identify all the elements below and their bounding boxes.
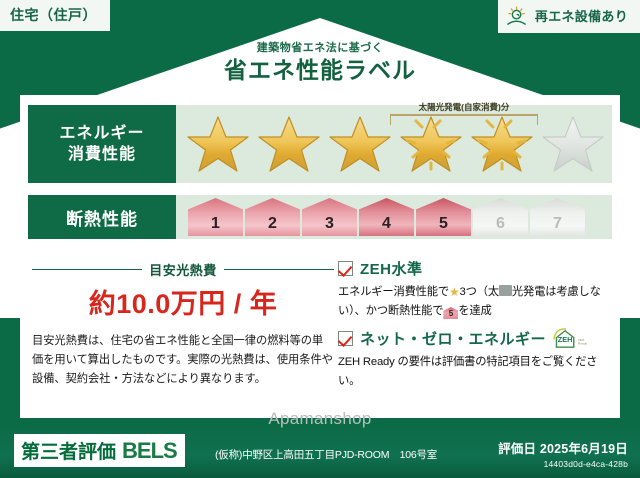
- energy-performance-label: エネルギー 消費性能: [28, 105, 176, 183]
- evaluation-date: 評価日 2025年6月19日: [498, 438, 628, 457]
- inline-house-level-icon: 5: [443, 307, 458, 319]
- watermark: Apamanshop: [0, 409, 640, 429]
- header-subtitle: 建築物省エネ法に基づく: [0, 41, 640, 55]
- footer: 第三者評価 BELS (仮称)中野区上高田五丁目PJD-ROOM 106号室 評…: [0, 428, 640, 478]
- energy-label-line2: 消費性能: [59, 144, 144, 165]
- net-zero-energy-block: ネット・ゼロ・エネルギー ZEH ZEH Ready ZEH Ready の要件…: [338, 327, 604, 391]
- insulation-level-scale: 1234567: [176, 195, 612, 239]
- house-type-badge: 住宅（住戸）: [0, 0, 110, 31]
- bels-jp-label: 第三者評価: [21, 437, 116, 464]
- energy-star-rating: 太陽光発電(自家消費)分: [176, 105, 612, 183]
- svg-text:ZEH: ZEH: [558, 335, 573, 344]
- star-6: [538, 111, 608, 177]
- utility-cost-heading-text: 目安光熱費: [149, 260, 217, 279]
- insulation-performance-label: 断熱性能: [28, 195, 176, 239]
- zeh-body-part2: 3つ（太: [460, 286, 499, 298]
- renewable-energy-badge: 再エネ設備あり: [498, 0, 640, 33]
- insulation-house-5: 5: [416, 198, 471, 236]
- svg-text:Ready: Ready: [578, 342, 587, 346]
- insulation-house-7: 7: [530, 198, 585, 236]
- energy-performance-label: 建築物省エネ法に基づく 省エネ性能ラベル 住宅（住戸） 再エネ設備あり: [0, 0, 640, 478]
- header-title-group: 建築物省エネ法に基づく 省エネ性能ラベル: [0, 41, 640, 84]
- energy-performance-row: エネルギー 消費性能 太陽光発電(自家消費)分: [28, 105, 612, 183]
- zeh-panel: ZEH水準 エネルギー消費性能で★3つ（太光発電は考慮しない）、かつ断熱性能で5…: [334, 258, 604, 397]
- insulation-house-2: 2: [245, 198, 300, 236]
- details-section: 目安光熱費 約10.0万円 / 年 目安光熱費は、住宅の省エネ性能と全国一律の燃…: [28, 258, 612, 397]
- insulation-performance-row: 断熱性能 1234567: [28, 195, 612, 239]
- evaluation-info: 評価日 2025年6月19日 14403d0d-e4ca-428b: [498, 438, 628, 469]
- redacted-character: [499, 285, 512, 296]
- insulation-house-4: 4: [359, 198, 414, 236]
- renewable-badge-label: 再エネ設備あり: [535, 8, 628, 25]
- label-body-card: エネルギー 消費性能 太陽光発電(自家消費)分 断熱性能 1234567: [20, 95, 620, 418]
- insulation-house-3: 3: [302, 198, 357, 236]
- star-2: [254, 111, 324, 177]
- net-zero-title-row: ネット・ゼロ・エネルギー ZEH ZEH Ready: [338, 327, 604, 349]
- utility-cost-note: 目安光熱費は、住宅の省エネ性能と全国一律の燃料等の単価を用いて算出したものです。…: [32, 332, 334, 389]
- net-zero-body: ZEH Ready の要件は評価書の特記項目をご覧ください。: [338, 353, 604, 391]
- zeh-standard-body: エネルギー消費性能で★3つ（太光発電は考慮しない）、かつ断熱性能で5を達成: [338, 283, 604, 321]
- star-icon: [541, 114, 605, 174]
- house-list: 1234567: [188, 198, 585, 236]
- utility-cost-heading: 目安光熱費: [32, 260, 334, 279]
- insulation-house-6: 6: [473, 198, 528, 236]
- net-zero-checkbox[interactable]: [338, 331, 353, 346]
- property-address: (仮称)中野区上高田五丁目PJD-ROOM 106号室: [215, 447, 437, 462]
- page-title: 省エネ性能ラベル: [0, 56, 640, 84]
- zeh-body-part4: を達成: [458, 305, 491, 317]
- utility-cost-panel: 目安光熱費 約10.0万円 / 年 目安光熱費は、住宅の省エネ性能と全国一律の燃…: [28, 258, 334, 397]
- star-icon: [257, 114, 321, 174]
- zeh-standard-checkbox[interactable]: [338, 261, 353, 276]
- zeh-body-part1: エネルギー消費性能で: [338, 286, 449, 298]
- insulation-house-1: 1: [188, 198, 243, 236]
- star-1: [183, 111, 253, 177]
- rule-left: [32, 269, 142, 271]
- solar-bracket-label: 太陽光発電(自家消費)分: [369, 101, 559, 113]
- bels-badge: 第三者評価 BELS: [14, 434, 185, 467]
- evaluation-id: 14403d0d-e4ca-428b: [498, 459, 628, 469]
- bels-en-label: BELS: [122, 438, 177, 464]
- zeh-ready-logo-icon: ZEH ZEH Ready: [553, 327, 587, 349]
- zeh-standard-title: ZEH水準: [360, 258, 423, 279]
- net-zero-title: ネット・ゼロ・エネルギー: [360, 328, 546, 349]
- energy-label-line1: エネルギー: [59, 123, 144, 144]
- star-icon: [186, 114, 250, 174]
- rule-right: [224, 269, 334, 271]
- solar-bracket: [390, 114, 538, 125]
- star-3: [325, 111, 395, 177]
- zeh-standard-block: ZEH水準 エネルギー消費性能で★3つ（太光発電は考慮しない）、かつ断熱性能で5…: [338, 258, 604, 321]
- zeh-standard-title-row: ZEH水準: [338, 258, 604, 279]
- inline-star-icon: ★: [449, 285, 460, 299]
- sun-icon: [506, 6, 529, 27]
- star-icon: [328, 114, 392, 174]
- utility-cost-amount: 約10.0万円 / 年: [32, 288, 334, 320]
